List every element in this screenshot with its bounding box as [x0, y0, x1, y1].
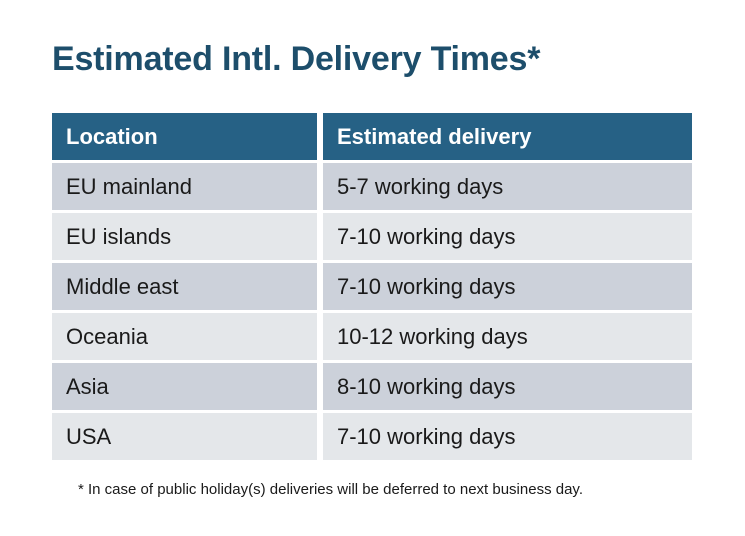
table-row: EU mainland 5-7 working days: [52, 163, 692, 210]
cell-estimated-delivery: 5-7 working days: [323, 163, 692, 210]
cell-estimated-delivery: 7-10 working days: [323, 263, 692, 310]
cell-location: Oceania: [52, 313, 317, 360]
table-row: Oceania 10-12 working days: [52, 313, 692, 360]
cell-estimated-delivery: 7-10 working days: [323, 413, 692, 460]
column-header-estimated-delivery: Estimated delivery: [323, 113, 692, 160]
table-row: Asia 8-10 working days: [52, 363, 692, 410]
cell-location: Middle east: [52, 263, 317, 310]
column-header-location: Location: [52, 113, 317, 160]
cell-location: Asia: [52, 363, 317, 410]
cell-estimated-delivery: 8-10 working days: [323, 363, 692, 410]
table-row: Middle east 7-10 working days: [52, 263, 692, 310]
table-row: USA 7-10 working days: [52, 413, 692, 460]
estimated-delivery-table: Location Estimated delivery EU mainland …: [52, 113, 692, 460]
cell-location: USA: [52, 413, 317, 460]
cell-location: EU mainland: [52, 163, 317, 210]
cell-location: EU islands: [52, 213, 317, 260]
page-title: Estimated Intl. Delivery Times*: [52, 38, 540, 80]
table-header-row: Location Estimated delivery: [52, 113, 692, 160]
delivery-times-page: Estimated Intl. Delivery Times* Location…: [0, 0, 745, 536]
footnote-text: * In case of public holiday(s) deliverie…: [78, 480, 583, 500]
cell-estimated-delivery: 7-10 working days: [323, 213, 692, 260]
cell-estimated-delivery: 10-12 working days: [323, 313, 692, 360]
table-row: EU islands 7-10 working days: [52, 213, 692, 260]
